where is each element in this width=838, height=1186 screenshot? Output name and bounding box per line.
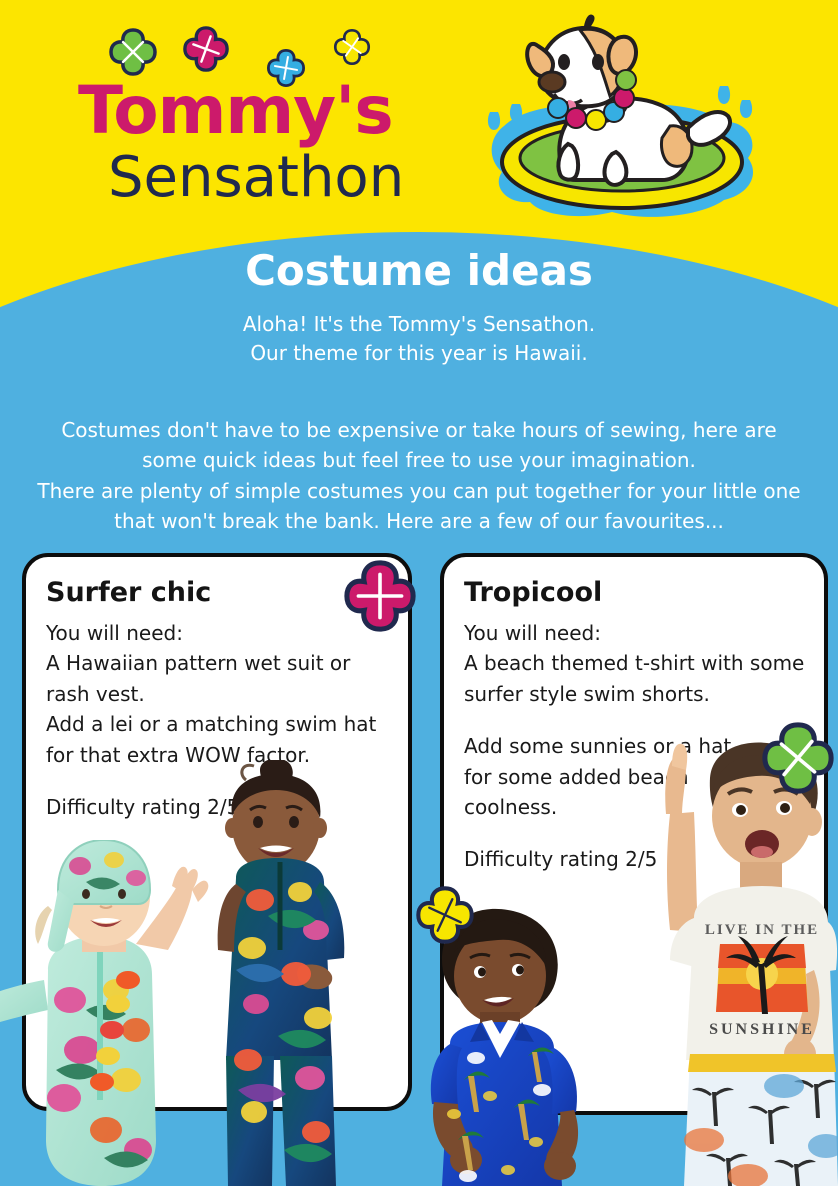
need-line-1: A Hawaiian pattern wet suit or: [46, 651, 350, 675]
brand-name-tommys: Tommy's: [78, 78, 393, 144]
flower-pink-card-icon: [344, 560, 416, 632]
flower-yellow-card-icon: [416, 886, 474, 944]
extra-line-1: Add some sunnies or a hat: [464, 734, 731, 758]
difficulty-rating: Difficulty rating 2/5: [464, 844, 806, 874]
flower-yellow-icon: [333, 28, 371, 66]
dog-mascot-icon: [472, 8, 772, 230]
costume-card-surfer-chic: Surfer chic You will need: A Hawaiian pa…: [22, 553, 412, 1111]
brand-name-sensathon: Sensathon: [108, 150, 404, 206]
need-line-2: surfer style swim shorts.: [464, 682, 710, 706]
extra-line-2: for some added beach: [464, 765, 689, 789]
header-text-block: Costume ideas Aloha! It's the Tommy's Se…: [0, 248, 838, 368]
need-line-2: rash vest.: [46, 682, 145, 706]
intro-paragraph: Costumes don't have to be expensive or t…: [19, 415, 819, 537]
extra-line-3: coolness.: [464, 795, 557, 819]
intro-line-3: There are plenty of simple costumes you …: [19, 476, 819, 506]
card-body: You will need: A Hawaiian pattern wet su…: [46, 618, 390, 822]
intro-line-4: that won't break the bank. Here are a fe…: [19, 506, 819, 536]
subtitle-line-1: Aloha! It's the Tommy's Sensathon.: [0, 310, 838, 339]
flower-green-icon: [108, 27, 158, 77]
page-title: Costume ideas: [0, 248, 838, 294]
card-body: You will need: A beach themed t-shirt wi…: [464, 618, 806, 875]
need-line-1: A beach themed t-shirt with some: [464, 651, 804, 675]
need-label: You will need:: [464, 621, 601, 645]
subtitle-line-2: Our theme for this year is Hawaii.: [0, 339, 838, 368]
extra-line-1: Add a lei or a matching swim hat: [46, 712, 376, 736]
poster-canvas: Tommy's Sensathon: [0, 0, 838, 1186]
card-title: Tropicool: [464, 579, 824, 606]
intro-line-2: some quick ideas but feel free to use yo…: [19, 445, 819, 475]
intro-line-1: Costumes don't have to be expensive or t…: [19, 415, 819, 445]
flower-blue-icon: [266, 48, 306, 88]
difficulty-rating: Difficulty rating 2/5: [46, 792, 390, 822]
extra-line-2: for that extra WOW factor.: [46, 743, 310, 767]
need-label: You will need:: [46, 621, 183, 645]
costume-card-tropicool: Tropicool You will need: A beach themed …: [440, 553, 828, 1115]
flower-green-card-icon: [762, 722, 834, 794]
flower-pink-icon: [182, 25, 230, 73]
brand-logo: Tommy's Sensathon: [0, 0, 470, 230]
